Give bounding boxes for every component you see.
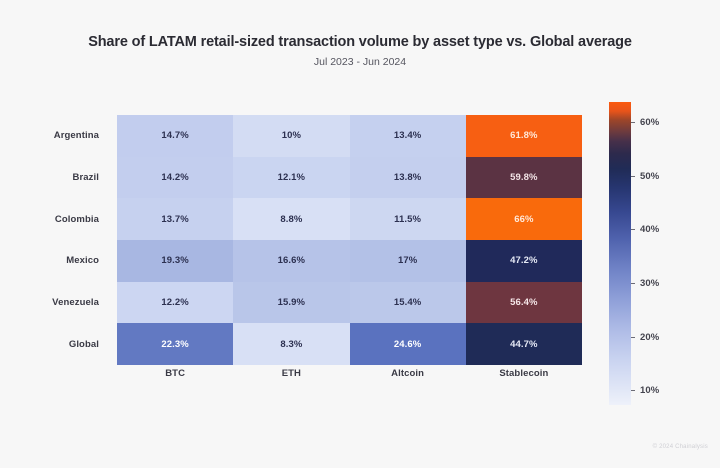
colorbar-tick-label: 10% bbox=[640, 385, 659, 396]
heatmap-cell-value: 15.9% bbox=[278, 297, 305, 308]
heatmap-plot: 14.7%10%13.4%61.8%14.2%12.1%13.8%59.8%13… bbox=[117, 115, 582, 365]
heatmap-cell-value: 44.7% bbox=[510, 339, 537, 350]
column-label: Stablecoin bbox=[466, 368, 582, 390]
colorbar-tick-mark bbox=[631, 176, 635, 177]
page-title: Share of LATAM retail-sized transaction … bbox=[0, 33, 720, 51]
heatmap-cell[interactable]: 15.9% bbox=[233, 282, 349, 324]
column-axis-labels: BTCETHAltcoinStablecoin bbox=[117, 368, 582, 390]
colorbar-tick: 60% bbox=[631, 117, 659, 129]
colorbar-tick: 30% bbox=[631, 277, 659, 289]
heatmap-cell[interactable]: 14.2% bbox=[117, 157, 233, 199]
heatmap-cell[interactable]: 11.5% bbox=[350, 198, 466, 240]
colorbar-tick: 10% bbox=[631, 385, 659, 397]
heatmap-cell[interactable]: 61.8% bbox=[466, 115, 582, 157]
row-label: Argentina bbox=[0, 115, 108, 157]
colorbar-tick-label: 20% bbox=[640, 332, 659, 343]
row-label: Mexico bbox=[0, 240, 108, 282]
column-label: ETH bbox=[233, 368, 349, 390]
colorbar-gradient bbox=[609, 102, 631, 405]
colorbar-tick-label: 60% bbox=[640, 117, 659, 128]
row-label: Global bbox=[0, 323, 108, 365]
heatmap-cell[interactable]: 14.7% bbox=[117, 115, 233, 157]
colorbar-tick: 50% bbox=[631, 170, 659, 182]
heatmap-cell-value: 22.3% bbox=[161, 339, 188, 350]
colorbar-tick-label: 40% bbox=[640, 224, 659, 235]
heatmap-cell[interactable]: 16.6% bbox=[233, 240, 349, 282]
column-label: Altcoin bbox=[350, 368, 466, 390]
heatmap-cell[interactable]: 59.8% bbox=[466, 157, 582, 199]
heatmap-cell[interactable]: 66% bbox=[466, 198, 582, 240]
heatmap-cell[interactable]: 8.3% bbox=[233, 323, 349, 365]
heatmap-cell-value: 8.3% bbox=[280, 339, 302, 350]
heatmap-cell-value: 14.2% bbox=[161, 172, 188, 183]
heatmap-cell[interactable]: 17% bbox=[350, 240, 466, 282]
colorbar-ticks: 60%50%40%30%20%10% bbox=[631, 102, 691, 405]
heatmap-cell[interactable]: 22.3% bbox=[117, 323, 233, 365]
heatmap-cell-value: 8.8% bbox=[280, 214, 302, 225]
row-axis-labels: ArgentinaBrazilColombiaMexicoVenezuelaGl… bbox=[0, 115, 108, 365]
heatmap-cell-value: 17% bbox=[398, 255, 417, 266]
heatmap-cell[interactable]: 19.3% bbox=[117, 240, 233, 282]
heatmap-cell[interactable]: 12.1% bbox=[233, 157, 349, 199]
row-label: Venezuela bbox=[0, 282, 108, 324]
heatmap-cell-value: 10% bbox=[282, 130, 301, 141]
heatmap-cell-value: 66% bbox=[514, 214, 533, 225]
heatmap-cell-value: 56.4% bbox=[510, 297, 537, 308]
heatmap-cell-value: 61.8% bbox=[510, 130, 537, 141]
heatmap-cell-value: 12.2% bbox=[161, 297, 188, 308]
colorbar: 60%50%40%30%20%10% bbox=[609, 102, 631, 405]
heatmap-cell-value: 14.7% bbox=[161, 130, 188, 141]
colorbar-tick-mark bbox=[631, 337, 635, 338]
row-label: Colombia bbox=[0, 198, 108, 240]
heatmap-cell[interactable]: 12.2% bbox=[117, 282, 233, 324]
heatmap-cell[interactable]: 13.7% bbox=[117, 198, 233, 240]
heatmap-cell[interactable]: 47.2% bbox=[466, 240, 582, 282]
heatmap-cell-value: 59.8% bbox=[510, 172, 537, 183]
heatmap-cell-value: 12.1% bbox=[278, 172, 305, 183]
column-label: BTC bbox=[117, 368, 233, 390]
colorbar-tick: 20% bbox=[631, 331, 659, 343]
colorbar-tick-label: 50% bbox=[640, 171, 659, 182]
heatmap-cell[interactable]: 15.4% bbox=[350, 282, 466, 324]
title-block: Share of LATAM retail-sized transaction … bbox=[0, 33, 720, 69]
chart-subtitle: Jul 2023 - Jun 2024 bbox=[0, 56, 720, 69]
heatmap-cell[interactable]: 8.8% bbox=[233, 198, 349, 240]
colorbar-tick: 40% bbox=[631, 224, 659, 236]
watermark: © 2024 Chainalysis bbox=[653, 444, 708, 450]
row-label: Brazil bbox=[0, 157, 108, 199]
heatmap-cell[interactable]: 13.8% bbox=[350, 157, 466, 199]
colorbar-tick-mark bbox=[631, 390, 635, 391]
heatmap-cell-value: 11.5% bbox=[394, 214, 421, 225]
colorbar-tick-mark bbox=[631, 122, 635, 123]
heatmap-cell[interactable]: 13.4% bbox=[350, 115, 466, 157]
heatmap-cell-value: 47.2% bbox=[510, 255, 537, 266]
heatmap-cell-value: 24.6% bbox=[394, 339, 421, 350]
heatmap-grid: 14.7%10%13.4%61.8%14.2%12.1%13.8%59.8%13… bbox=[117, 115, 582, 365]
heatmap-cell[interactable]: 44.7% bbox=[466, 323, 582, 365]
colorbar-tick-mark bbox=[631, 283, 635, 284]
heatmap-cell-value: 13.4% bbox=[394, 130, 421, 141]
heatmap-cell-value: 13.8% bbox=[394, 172, 421, 183]
chart-canvas: Share of LATAM retail-sized transaction … bbox=[0, 0, 720, 468]
heatmap-cell-value: 19.3% bbox=[161, 255, 188, 266]
heatmap-cell[interactable]: 24.6% bbox=[350, 323, 466, 365]
heatmap-cell[interactable]: 56.4% bbox=[466, 282, 582, 324]
heatmap-cell[interactable]: 10% bbox=[233, 115, 349, 157]
heatmap-cell-value: 15.4% bbox=[394, 297, 421, 308]
heatmap-cell-value: 16.6% bbox=[278, 255, 305, 266]
colorbar-tick-label: 30% bbox=[640, 278, 659, 289]
colorbar-tick-mark bbox=[631, 229, 635, 230]
heatmap-cell-value: 13.7% bbox=[161, 214, 188, 225]
